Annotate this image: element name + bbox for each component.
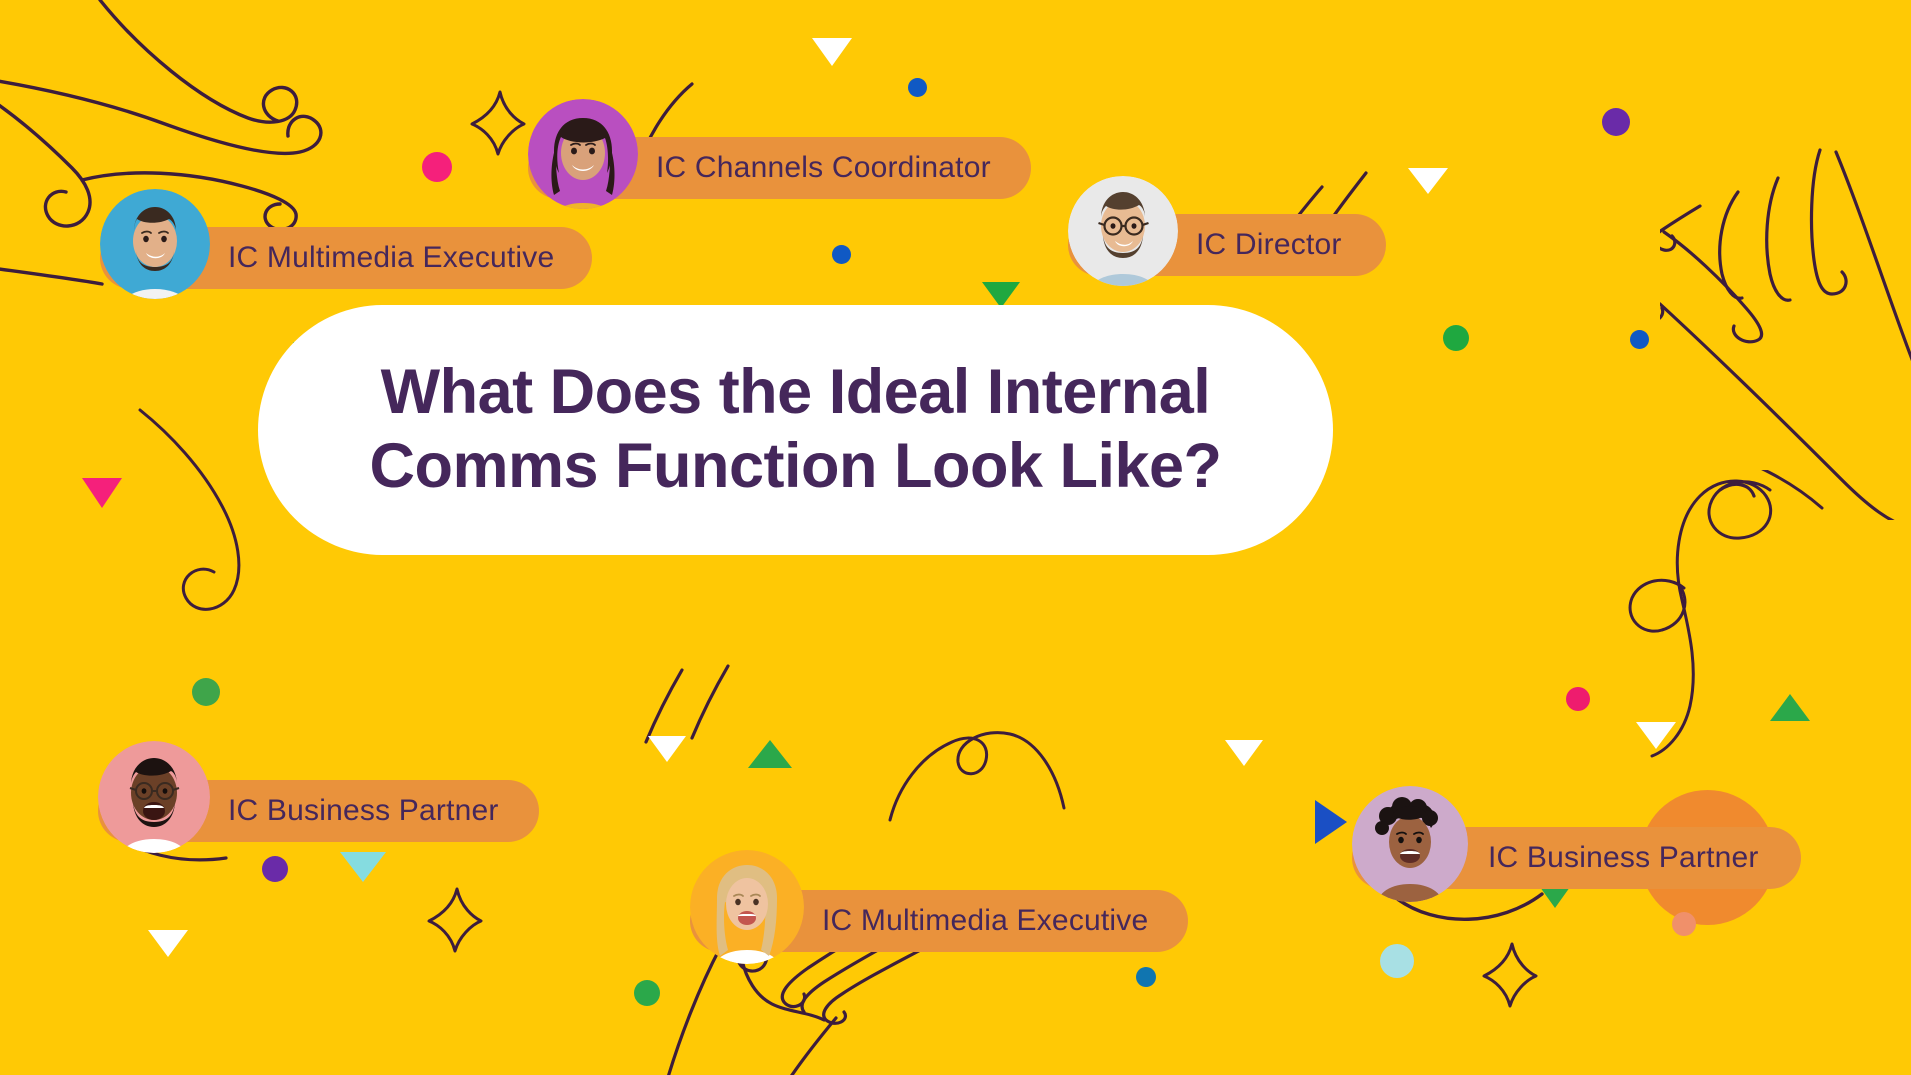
dot-cyan-bottom-right — [1380, 944, 1414, 978]
dot-blue-bottom-center — [1136, 967, 1156, 987]
dot-violet-top-right — [1602, 108, 1630, 136]
triangle-green-right — [1770, 694, 1810, 721]
avatar-man-beard-blue — [100, 189, 210, 299]
role-pill-ic-multimedia-executive-top[interactable]: IC Multimedia Executive — [100, 185, 592, 303]
headline-card: What Does the Ideal Internal Comms Funct… — [258, 305, 1333, 555]
triangle-white-bottom-right — [1636, 722, 1676, 749]
triangle-white-mid-right — [1225, 740, 1263, 766]
dot-violet-bottom-left — [262, 856, 288, 882]
role-pill-ic-multimedia-executive-bottom[interactable]: IC Multimedia Executive — [690, 848, 1188, 966]
dot-pink-mid-right — [1566, 687, 1590, 711]
avatar-woman-curly-lavender — [1352, 786, 1468, 902]
poster-canvas: IC Channels Coordinator — [0, 0, 1911, 1075]
role-pill-ic-channels-coordinator[interactable]: IC Channels Coordinator — [528, 95, 1031, 213]
diamond-bottom-right-icon — [1480, 940, 1540, 1010]
triangle-cyan-bottom-left — [340, 852, 386, 882]
role-pill-ic-director[interactable]: IC Director — [1068, 172, 1386, 290]
headline-line-1: What Does the Ideal Internal — [381, 357, 1211, 427]
avatar-man-glasses-gray — [1068, 176, 1178, 286]
pill-label: IC Business Partner — [1488, 841, 1759, 875]
squiggle-sparks-blonde-icon — [630, 660, 750, 748]
squiggle-top-center-loop-icon — [880, 712, 1070, 832]
pill-label: IC Multimedia Executive — [822, 904, 1148, 938]
triangle-white-top-center — [812, 38, 852, 66]
dot-blue-upper-right — [1630, 330, 1649, 349]
diamond-top-left-icon — [468, 88, 528, 158]
triangle-blue-arrow-right — [1315, 800, 1347, 844]
pill-label: IC Director — [1196, 228, 1342, 262]
triangle-green-bottom-center — [748, 740, 792, 768]
triangle-white-bottom-center — [648, 736, 686, 762]
triangle-white-top-right — [1408, 168, 1448, 194]
pill-label: IC Multimedia Executive — [228, 241, 554, 275]
diamond-bottom-left-icon — [425, 885, 485, 955]
dot-green-upper-right — [1443, 325, 1469, 351]
hand-right-icon — [1660, 140, 1911, 520]
avatar-man-smiling-pink — [98, 741, 210, 853]
headline-line-2: Comms Function Look Like? — [369, 431, 1221, 501]
avatar-woman-blonde-amber — [690, 850, 804, 964]
triangle-pink-left — [82, 478, 122, 508]
dot-pink-top-left — [422, 152, 452, 182]
pill-label: IC Channels Coordinator — [656, 151, 991, 185]
dot-salmon-bottom-right — [1672, 912, 1696, 936]
squiggle-right-loop-icon — [1590, 470, 1830, 760]
role-pill-ic-business-partner-left[interactable]: IC Business Partner — [98, 738, 539, 856]
role-pill-ic-business-partner-right[interactable]: IC Business Partner — [1352, 785, 1801, 903]
pill-label: IC Business Partner — [228, 794, 499, 828]
dot-blue-upper-left — [832, 245, 851, 264]
dot-green-mid-left — [192, 678, 220, 706]
page-title: What Does the Ideal Internal Comms Funct… — [323, 356, 1267, 503]
triangle-white-bottom-left — [148, 930, 188, 957]
dot-green-bottom-left — [634, 980, 660, 1006]
